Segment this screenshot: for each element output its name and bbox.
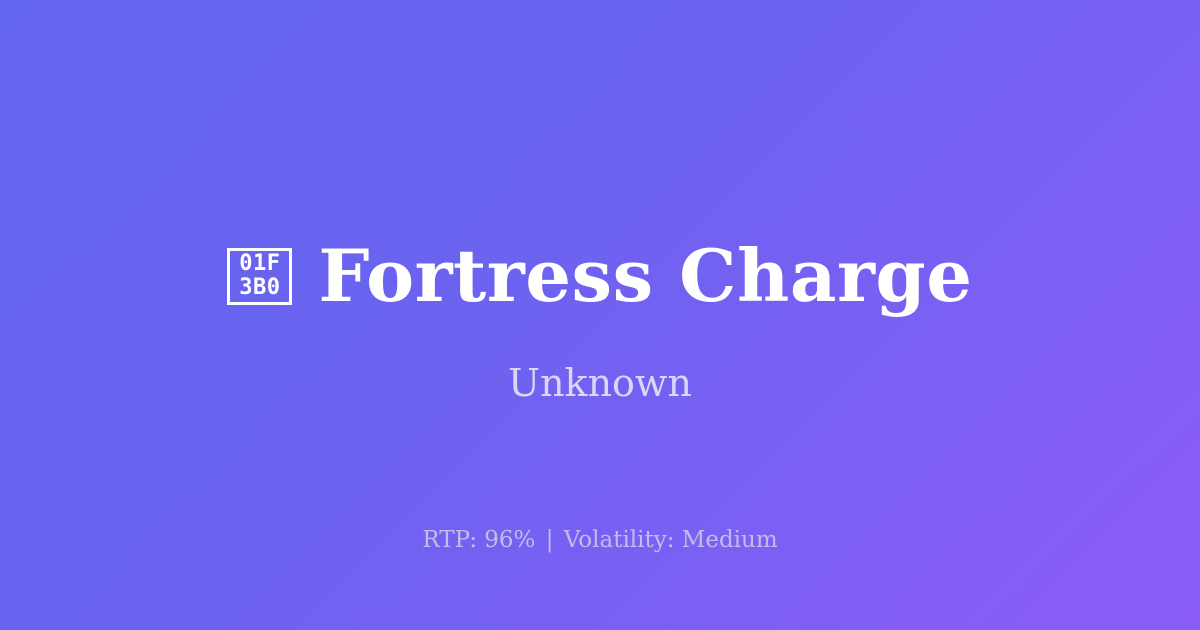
slot-machine-icon-codepoint-bottom: 3B0 [239, 276, 280, 300]
volatility-value: Volatility: Medium [564, 527, 778, 553]
page-title: Fortress Charge [318, 240, 972, 312]
slot-machine-icon-codepoint-top: 01F [239, 252, 280, 276]
rtp-value: RTP: 96% [422, 527, 535, 553]
meta-separator: | [543, 527, 557, 553]
title-row: 01F 3B0 Fortress Charge [0, 230, 1200, 322]
provider-subtitle: Unknown [0, 362, 1200, 406]
og-card: 01F 3B0 Fortress Charge Unknown RTP: 96%… [0, 0, 1200, 630]
slot-machine-icon: 01F 3B0 [227, 248, 292, 305]
game-meta-line: RTP: 96% | Volatility: Medium [0, 527, 1200, 555]
